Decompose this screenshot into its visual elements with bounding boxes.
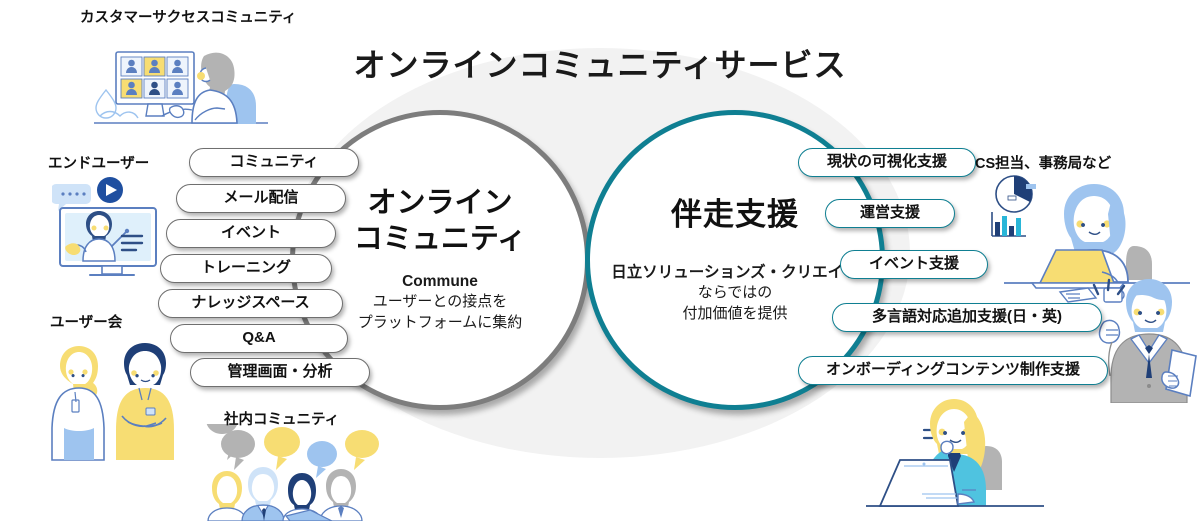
caption-customer-success-community: カスタマーサクセスコミュニティ: [80, 6, 296, 27]
right-circle-sub-strong: 日立ソリューションズ・クリエイト: [611, 262, 858, 283]
left-circle-heading-line2: コミュニティ: [354, 223, 526, 255]
left-circle-heading: オンライン コミュニティ: [354, 186, 526, 257]
left-pill-qa[interactable]: Q&A: [170, 324, 348, 353]
left-circle-sub-line2: プラットフォームに集約: [358, 313, 523, 334]
right-circle-heading: 伴走支援: [671, 196, 799, 234]
left-circle-sub-line1: ユーザーとの接点を: [358, 292, 523, 313]
right-pill-multilingual-support[interactable]: 多言語対応追加支援(日・英): [832, 303, 1102, 332]
right-pill-event-support[interactable]: イベント支援: [840, 250, 988, 279]
right-pill-onboarding-content[interactable]: オンボーディングコンテンツ制作支援: [798, 356, 1108, 385]
right-pill-operation-support[interactable]: 運営支援: [825, 199, 955, 228]
illustration-group-meeting-speech-bubbles: [190, 424, 400, 526]
left-circle-subtext: Commune ユーザーとの接点を プラットフォームに集約: [358, 271, 523, 334]
caption-end-user: エンドユーザー: [48, 152, 149, 173]
left-pill-knowledge-space[interactable]: ナレッジスペース: [158, 289, 343, 318]
left-pill-event[interactable]: イベント: [166, 219, 336, 248]
right-circle-subtext: 日立ソリューションズ・クリエイト ならではの 付加価値を提供: [611, 262, 858, 325]
right-circle-sub-line1: ならではの: [611, 283, 858, 304]
right-circle-sub-line2: 付加価値を提供: [611, 304, 858, 325]
caption-cs-staff-office: CS担当、事務局など: [975, 152, 1111, 173]
right-pill-visualization-support[interactable]: 現状の可視化支援: [798, 148, 976, 177]
left-circle-sub-strong: Commune: [358, 271, 523, 292]
illustration-woman-thinking-laptop: [862, 398, 1047, 525]
illustration-man-suit-tablet: [1068, 278, 1200, 408]
caption-user-group: ユーザー会: [50, 311, 122, 332]
diagram-canvas: オンラインコミュニティサービス オンライン コミュニティ Commune ユーザ…: [0, 0, 1200, 521]
left-pill-community[interactable]: コミュニティ: [189, 148, 359, 177]
caption-internal-community: 社内コミュニティ: [224, 408, 339, 429]
left-circle-heading-line1: オンライン: [367, 187, 512, 219]
left-pill-mail-delivery[interactable]: メール配信: [176, 184, 346, 213]
page-title: オンラインコミュニティサービス: [0, 40, 1200, 86]
left-pill-admin-analytics[interactable]: 管理画面・分析: [190, 358, 370, 387]
left-pill-training[interactable]: トレーニング: [160, 254, 332, 283]
